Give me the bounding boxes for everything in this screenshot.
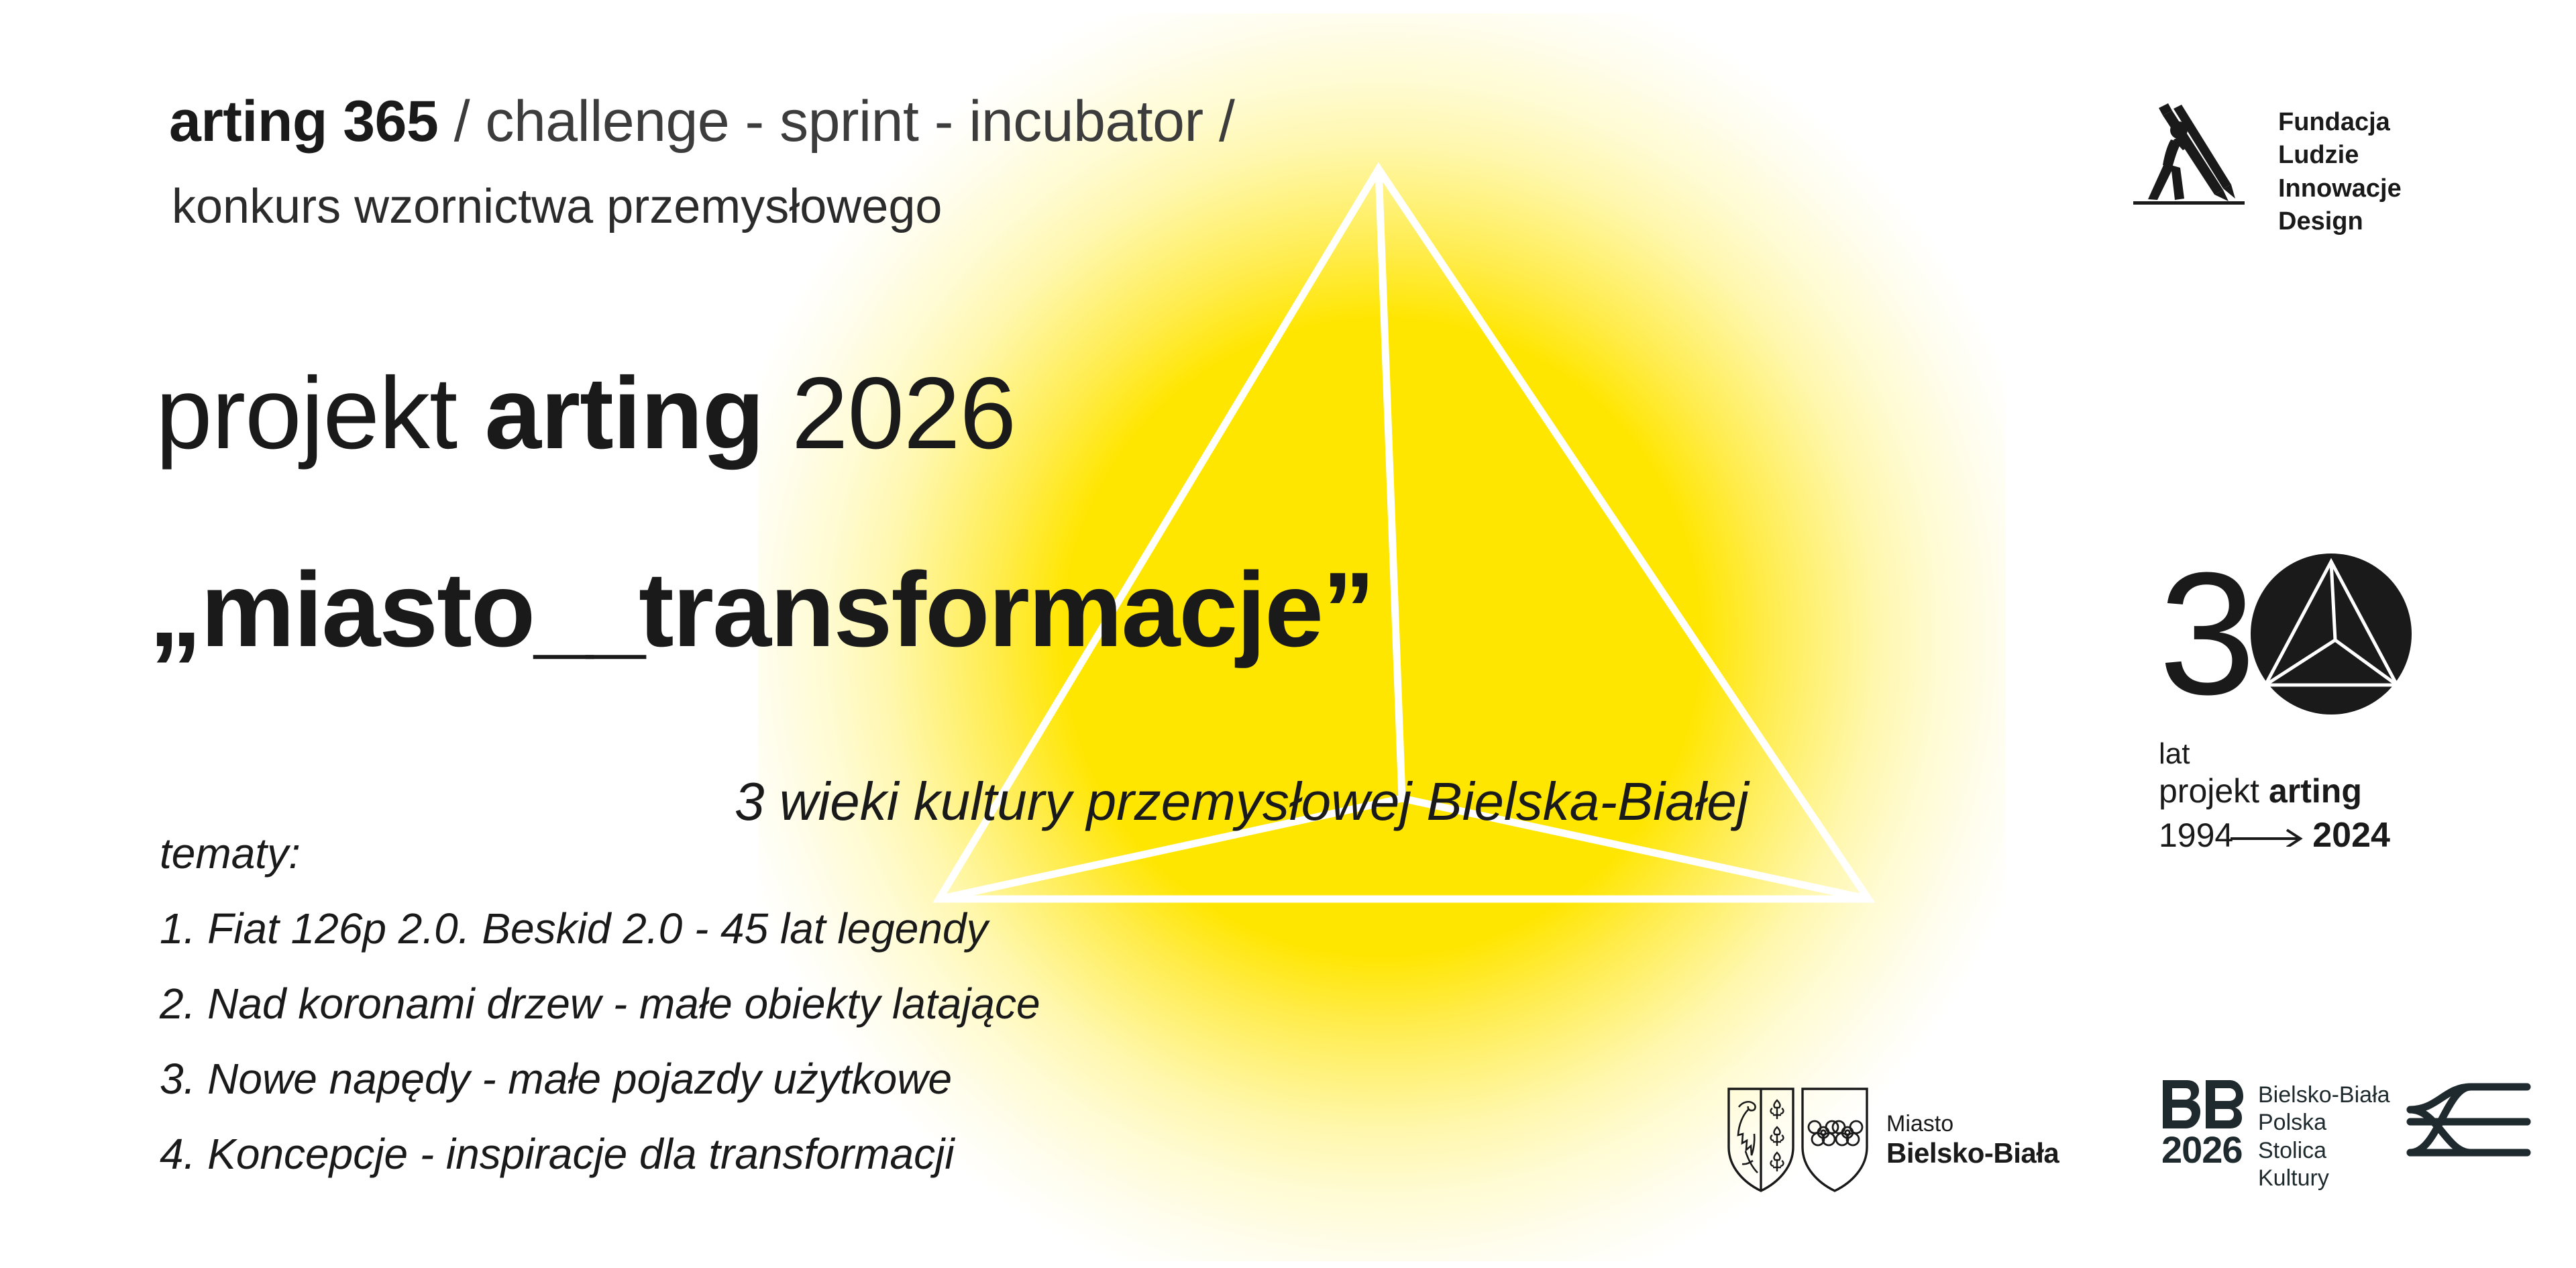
themes-block: tematy: 1. Fiat 126p 2.0. Beskid 2.0 - 4… [160, 832, 1300, 1175]
title-open-quote: „ [149, 551, 201, 669]
anniversary-lat-label: lat [2159, 737, 2508, 772]
arrow-right-icon [2231, 824, 2306, 847]
capital-year: 2026 [2161, 1132, 2249, 1167]
city-label: Miasto [1886, 1111, 2059, 1137]
anniversary-year-from: 1994 [2159, 816, 2233, 855]
capital-line-4: Kultury [2258, 1165, 2390, 1192]
foundation-line-3: Innowacje [2278, 172, 2402, 205]
capital-of-culture-logo: 2026 Bielsko-Biała Polska Stolica Kultur… [2161, 1079, 2531, 1193]
anniversary-arting-word: arting [2269, 772, 2362, 810]
theme-item-2: 2. Nad koronami drzew - małe obiekty lat… [160, 982, 1300, 1025]
subheader: konkurs wzornictwa przemysłowego [172, 182, 1712, 231]
anniversary-number: 3 [2159, 566, 2252, 702]
themes-label: tematy: [160, 832, 1300, 875]
year-word: 2026 [764, 356, 1016, 470]
city-logo: Miasto Bielsko-Biała [1725, 1086, 2059, 1194]
capital-line-1: Bielsko-Biała [2258, 1081, 2390, 1109]
crossing-lines-icon [2406, 1083, 2531, 1162]
poster-canvas: arting 365 / challenge - sprint - incuba… [0, 0, 2576, 1268]
foundation-line-2: Ludzie [2278, 139, 2402, 172]
foundation-logo: Fundacja Ludzie Innowacje Design [2133, 101, 2402, 239]
tetrahedron-in-circle-icon [2248, 551, 2414, 717]
brand-tagline-line: arting 365 / challenge - sprint - incuba… [169, 93, 1712, 150]
arting-word: arting [484, 356, 763, 470]
tagline: / challenge - sprint - incubator / [454, 89, 1235, 154]
title-word-miasto: miasto [201, 551, 534, 669]
anniversary-year-to: 2024 [2312, 815, 2390, 855]
brand-name: arting 365 [169, 89, 438, 154]
anniversary-projekt-line: projekt arting [2159, 772, 2508, 811]
capital-name: Bielsko-Biała Polska Stolica Kultury [2258, 1079, 2390, 1193]
city-title: Bielsko-Biała [1886, 1137, 2059, 1169]
anniversary-years-row: 1994 2024 [2159, 815, 2508, 855]
city-name: Miasto Bielsko-Biała [1886, 1111, 2059, 1168]
bb-monogram-icon [2161, 1079, 2249, 1130]
theme-item-1: 1. Fiat 126p 2.0. Beskid 2.0 - 45 lat le… [160, 907, 1300, 950]
anniversary-logo: 3 lat projekt arting 1994 2024 [2159, 550, 2508, 855]
anniversary-mark-row: 3 [2159, 550, 2508, 718]
foundation-line-4: Design [2278, 205, 2402, 238]
bielsko-biala-coat-of-arms-icon [1725, 1086, 1870, 1194]
foundation-line-1: Fundacja [2278, 106, 2402, 139]
title-word-transformacje: transformacje [639, 551, 1322, 669]
page-title: „miasto__transformacje” [149, 557, 1374, 663]
subtitle: 3 wieki kultury przemysłowej Bielska-Bia… [735, 775, 1749, 829]
theme-item-4: 4. Koncepcje - inspiracje dla transforma… [160, 1132, 1300, 1175]
foundation-name: Fundacja Ludzie Innowacje Design [2278, 101, 2402, 239]
projekt-word: projekt [156, 356, 484, 470]
title-close-quote: ” [1322, 551, 1374, 669]
capital-line-2: Polska [2258, 1109, 2390, 1137]
project-year-line: projekt arting 2026 [156, 362, 1016, 464]
capital-line-3: Stolica [2258, 1137, 2390, 1165]
theme-item-3: 3. Nowe napędy - małe pojazdy użytkowe [160, 1057, 1300, 1100]
headline-block: arting 365 / challenge - sprint - incuba… [169, 93, 1712, 231]
capital-monogram-block: 2026 [2161, 1079, 2249, 1167]
title-underscore: __ [534, 551, 639, 669]
anniversary-projekt-word: projekt [2159, 772, 2269, 810]
person-carrying-pencil-icon [2133, 101, 2261, 208]
